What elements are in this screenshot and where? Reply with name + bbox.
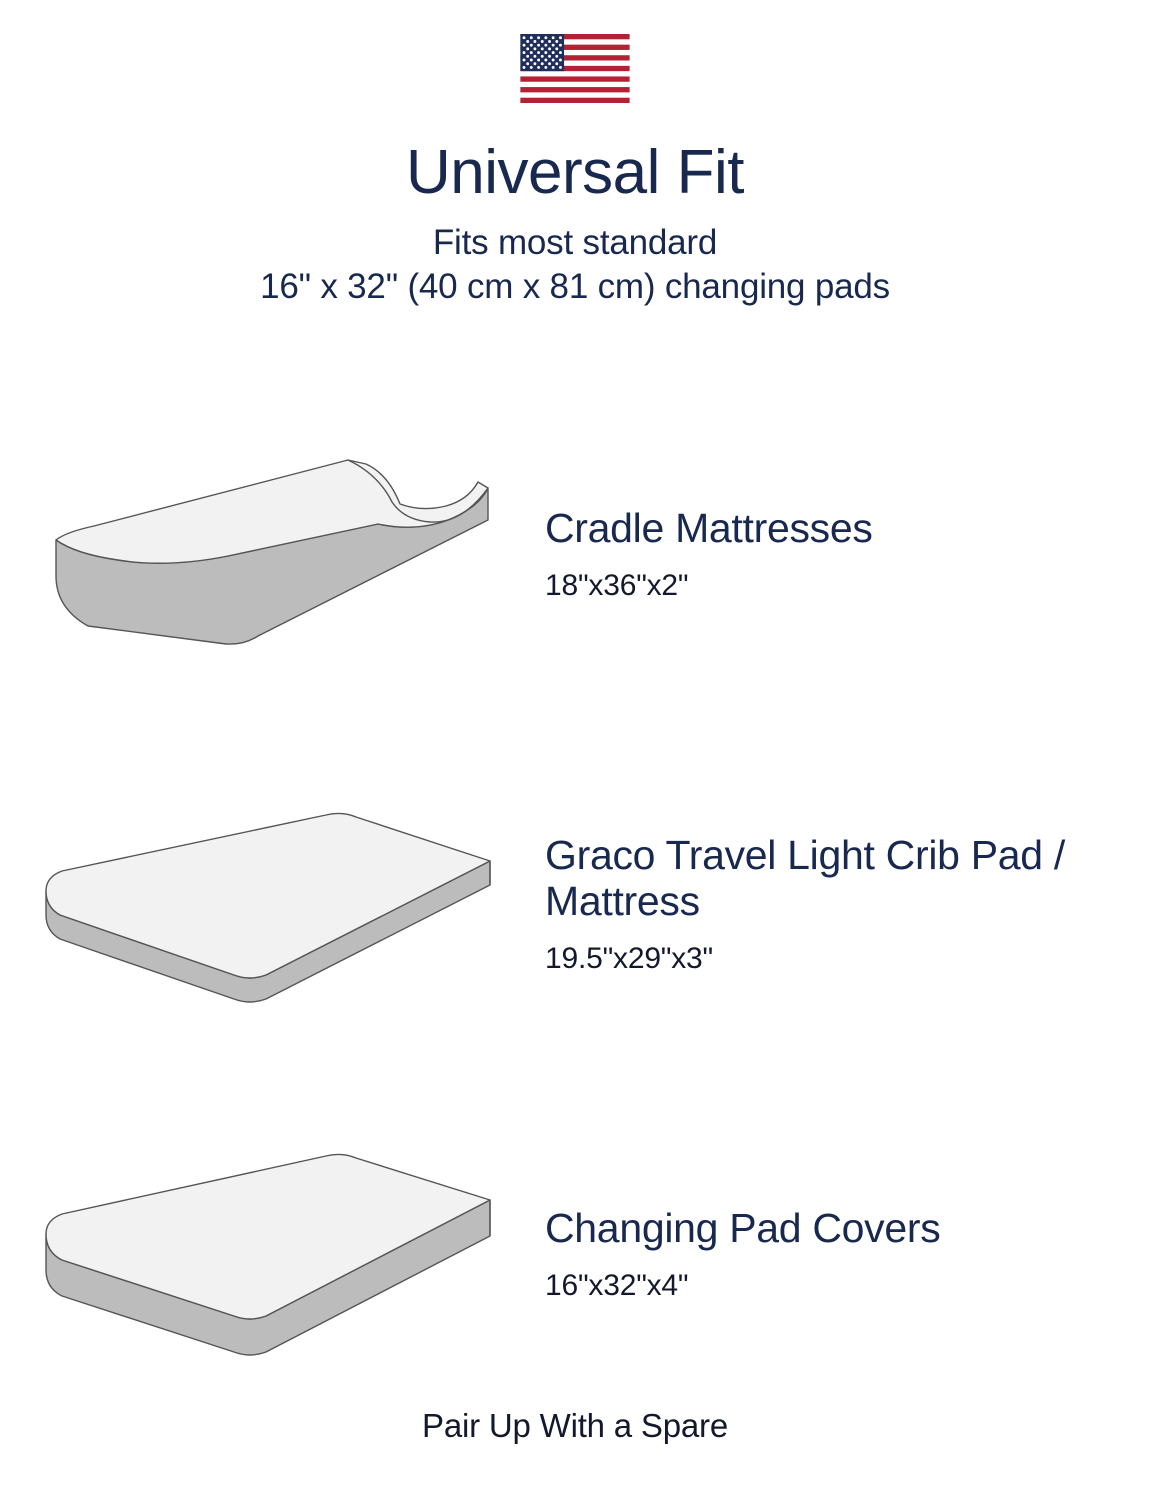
header: Universal Fit Fits most standard 16" x 3… <box>0 140 1150 309</box>
product-text-cell: Changing Pad Covers 16"x32"x4" <box>545 1206 1150 1304</box>
flat-mattress-thin-icon <box>38 803 508 1008</box>
flat-mattress-thick-icon <box>38 1148 508 1363</box>
product-illustration-cell <box>0 448 545 663</box>
product-text-cell: Cradle Mattresses 18"x36"x2" <box>545 506 1150 604</box>
product-dimensions: 16"x32"x4" <box>545 1268 1100 1304</box>
product-dimensions: 18"x36"x2" <box>545 568 1100 604</box>
product-list: Cradle Mattresses 18"x36"x2" Graco Trave… <box>0 380 1150 1430</box>
flag-container <box>0 34 1150 103</box>
product-row: Cradle Mattresses 18"x36"x2" <box>0 380 1150 730</box>
contoured-changing-pad-icon <box>48 448 498 663</box>
subtitle: Fits most standard 16" x 32" (40 cm x 81… <box>0 221 1150 309</box>
product-title: Changing Pad Covers <box>545 1206 1100 1252</box>
product-dimensions: 19.5"x29"x3" <box>545 941 1100 977</box>
product-title: Graco Travel Light Crib Pad / Mattress <box>545 833 1100 925</box>
footer-tagline: Pair Up With a Spare <box>422 1407 728 1444</box>
product-title: Cradle Mattresses <box>545 506 1100 552</box>
product-row: Graco Travel Light Crib Pad / Mattress 1… <box>0 730 1150 1080</box>
page-title: Universal Fit <box>0 140 1150 207</box>
usa-flag-icon <box>520 34 630 103</box>
product-illustration-cell <box>0 1148 545 1363</box>
subtitle-line-1: Fits most standard <box>0 221 1150 265</box>
subtitle-line-2: 16" x 32" (40 cm x 81 cm) changing pads <box>0 265 1150 309</box>
product-text-cell: Graco Travel Light Crib Pad / Mattress 1… <box>545 833 1150 977</box>
product-row: Changing Pad Covers 16"x32"x4" <box>0 1080 1150 1430</box>
product-illustration-cell <box>0 803 545 1008</box>
footer: Pair Up With a Spare <box>0 1407 1150 1445</box>
